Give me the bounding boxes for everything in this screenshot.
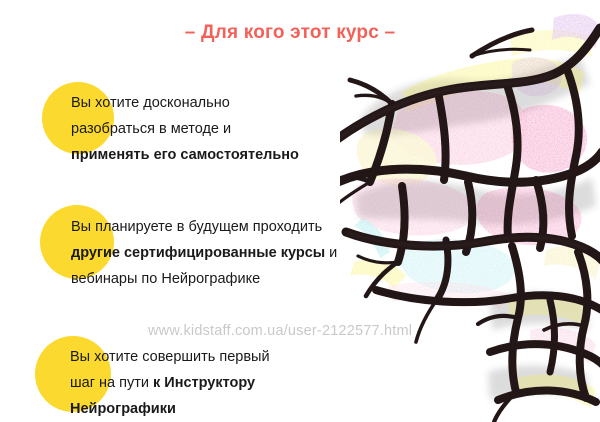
artwork-color-fills [350,14,600,408]
bullet-3-line-2-head: шаг на пути [70,375,153,391]
artwork-ink-lines [340,28,600,422]
artwork-shadow-layer [356,56,596,400]
bullet-2-line-3: вебинары по Нейрографике [71,266,337,292]
artwork-soft-edges [340,74,588,250]
bullet-3-line-1: Вы хотите совершить первый [70,344,270,370]
bullet-3-line-2: шаг на пути к Инструктору [70,370,270,396]
bullet-1-line-2: разобраться в методе и [71,116,299,142]
slide-canvas: – Для кого этот курс – Вы хотите доскона… [0,0,600,422]
bullet-2-line-1: Вы планируете в будущем проходить [71,214,337,240]
bullet-text-1: Вы хотите досконально разобраться в мето… [71,90,299,168]
watermark: www.kidstaff.com.ua/user-2122577.html [148,323,412,339]
bullet-2-line-2: другие сертифицированные курсы и [71,240,337,266]
neurographic-artwork [340,0,600,422]
bullet-3-line-3: Нейрографики [70,396,270,422]
bullet-3-line-2-bold: к Инструктору [153,375,255,391]
neurographic-svg [340,0,600,422]
page-title: – Для кого этот курс – [0,22,580,44]
bullet-1-line-3: применять его самостоятельно [71,142,299,168]
bullet-2-line-2-tail: и [325,245,337,261]
bullet-text-3: Вы хотите совершить первый шаг на пути к… [70,344,270,422]
bullet-2-line-2-bold: другие сертифицированные курсы [71,245,325,261]
bullet-1-line-1: Вы хотите досконально [71,90,299,116]
bullet-text-2: Вы планируете в будущем проходить другие… [71,214,337,292]
